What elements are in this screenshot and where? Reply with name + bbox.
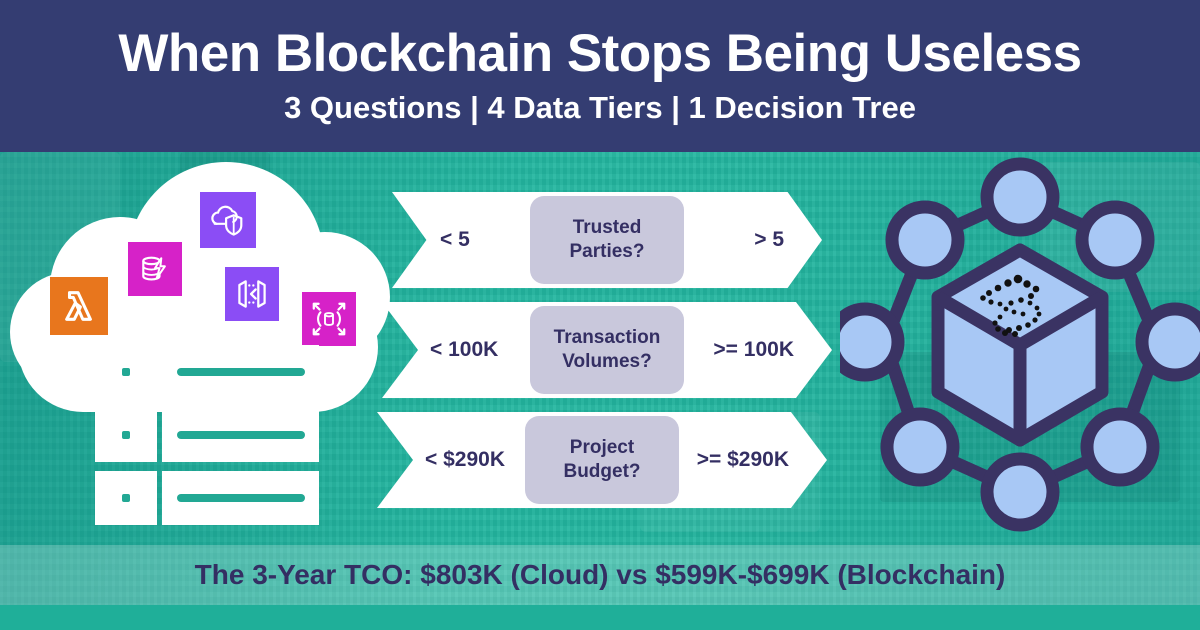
server-status-cell bbox=[95, 345, 157, 399]
footer-tco-text: The 3-Year TCO: $803K (Cloud) vs $599K-$… bbox=[195, 559, 1006, 591]
question-line-2: Budget? bbox=[563, 460, 640, 484]
question-box-trusted-parties[interactable]: Trusted Parties? bbox=[530, 196, 684, 284]
header-banner: When Blockchain Stops Being Useless 3 Qu… bbox=[0, 0, 1200, 152]
server-detail-cell bbox=[162, 471, 319, 525]
question-box-project-budget[interactable]: Project Budget? bbox=[525, 416, 679, 504]
page-title: When Blockchain Stops Being Useless bbox=[118, 26, 1081, 82]
database-scaling-icon bbox=[302, 292, 356, 346]
server-rack-row bbox=[95, 408, 319, 462]
decision-tree-arrows: < 5 > 5 Trusted Parties? < 100K >= 100K … bbox=[392, 192, 822, 562]
server-detail-bar bbox=[177, 494, 305, 502]
decision-right-label: >= 100K bbox=[713, 338, 794, 362]
server-detail-cell bbox=[162, 345, 319, 399]
server-detail-bar bbox=[177, 431, 305, 439]
decision-row-trusted-parties[interactable]: < 5 > 5 Trusted Parties? bbox=[392, 192, 822, 288]
decision-row-transaction-volumes[interactable]: < 100K >= 100K Transaction Volumes? bbox=[382, 302, 832, 398]
footer-banner: The 3-Year TCO: $803K (Cloud) vs $599K-$… bbox=[0, 545, 1200, 605]
cloud-shield-icon bbox=[200, 192, 256, 248]
server-status-dot bbox=[122, 431, 130, 439]
question-line-1: Trusted bbox=[573, 216, 642, 240]
aws-lambda-icon bbox=[50, 277, 108, 335]
server-detail-cell bbox=[162, 408, 319, 462]
cloud-architecture-illustration bbox=[10, 162, 390, 562]
question-line-1: Transaction bbox=[554, 326, 661, 350]
server-status-cell bbox=[95, 471, 157, 525]
decision-right-label: > 5 bbox=[754, 228, 784, 252]
footer-bottom-strip bbox=[0, 605, 1200, 630]
server-rack-row bbox=[95, 471, 319, 525]
database-bolt-icon bbox=[128, 242, 182, 296]
question-line-2: Parties? bbox=[570, 240, 645, 264]
decision-left-label: < 5 bbox=[440, 228, 470, 252]
server-status-dot bbox=[122, 368, 130, 376]
decision-left-label: < $290K bbox=[425, 448, 505, 472]
main-body: < 5 > 5 Trusted Parties? < 100K >= 100K … bbox=[0, 152, 1200, 630]
question-line-1: Project bbox=[570, 436, 634, 460]
server-status-cell bbox=[95, 408, 157, 462]
server-status-dot bbox=[122, 494, 130, 502]
decision-right-label: >= $290K bbox=[697, 448, 789, 472]
question-box-transaction-volumes[interactable]: Transaction Volumes? bbox=[530, 306, 684, 394]
page-subtitle: 3 Questions | 4 Data Tiers | 1 Decision … bbox=[284, 90, 916, 126]
infographic-canvas: When Blockchain Stops Being Useless 3 Qu… bbox=[0, 0, 1200, 630]
server-detail-bar bbox=[177, 368, 305, 376]
decision-left-label: < 100K bbox=[430, 338, 498, 362]
question-line-2: Volumes? bbox=[562, 350, 651, 374]
blockchain-network-illustration bbox=[840, 152, 1200, 552]
server-rack bbox=[95, 345, 319, 525]
server-rack-row bbox=[95, 345, 319, 399]
api-gateway-icon bbox=[225, 267, 279, 321]
decision-row-project-budget[interactable]: < $290K >= $290K Project Budget? bbox=[377, 412, 827, 508]
isometric-cube-with-iota-logo bbox=[938, 250, 1102, 440]
